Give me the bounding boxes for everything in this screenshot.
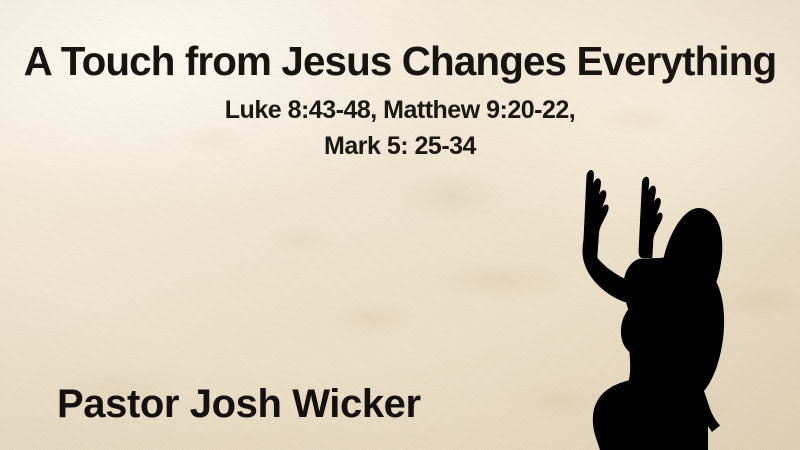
speaker-name: Pastor Josh Wicker [57,383,421,425]
scripture-line-2: Mark 5: 25-34 [0,128,800,164]
sermon-title-slide: A Touch from Jesus Changes Everything Lu… [0,0,800,450]
sermon-title: A Touch from Jesus Changes Everything [6,41,794,82]
scripture-line-1: Luke 8:43-48, Matthew 9:20-22, [0,92,800,128]
kneeling-worshipper-silhouette-icon [560,162,760,450]
scripture-references: Luke 8:43-48, Matthew 9:20-22, Mark 5: 2… [0,92,800,164]
